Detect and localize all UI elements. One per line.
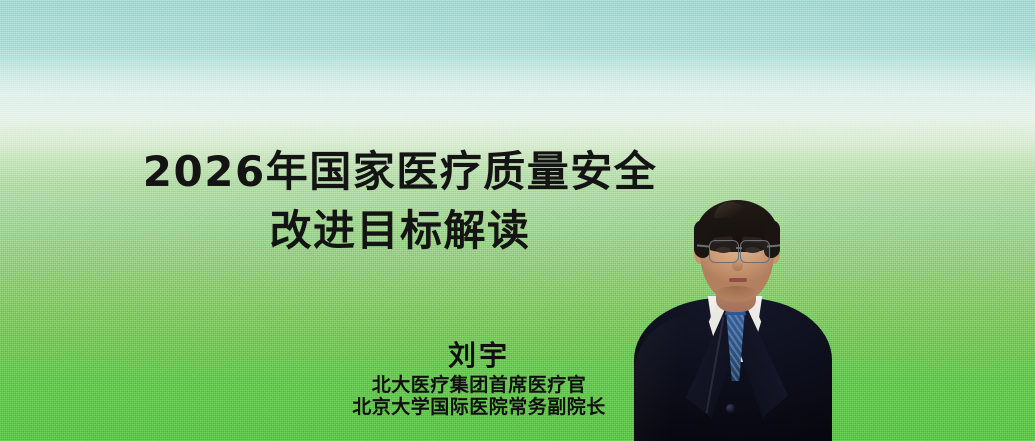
portrait-mouth [729,278,747,282]
slide-title-line-1: 2026年国家医疗质量安全 [0,142,800,201]
portrait-chin-shadow [716,286,758,300]
slide-title-line-2: 改进目标解读 [0,201,800,260]
speaker-name: 刘宇 [0,338,958,374]
slide-title: 2026年国家医疗质量安全 改进目标解读 [0,142,800,260]
speaker-role-line-1: 北大医疗集团首席医疗官 [0,374,958,396]
presentation-title-slide: 2026年国家医疗质量安全 改进目标解读 刘宇 北大医疗集团首席医疗官 北京大学… [0,0,1035,441]
speaker-block: 刘宇 北大医疗集团首席医疗官 北京大学国际医院常务副院长 [0,338,958,418]
speaker-role-line-2: 北京大学国际医院常务副院长 [0,396,958,418]
